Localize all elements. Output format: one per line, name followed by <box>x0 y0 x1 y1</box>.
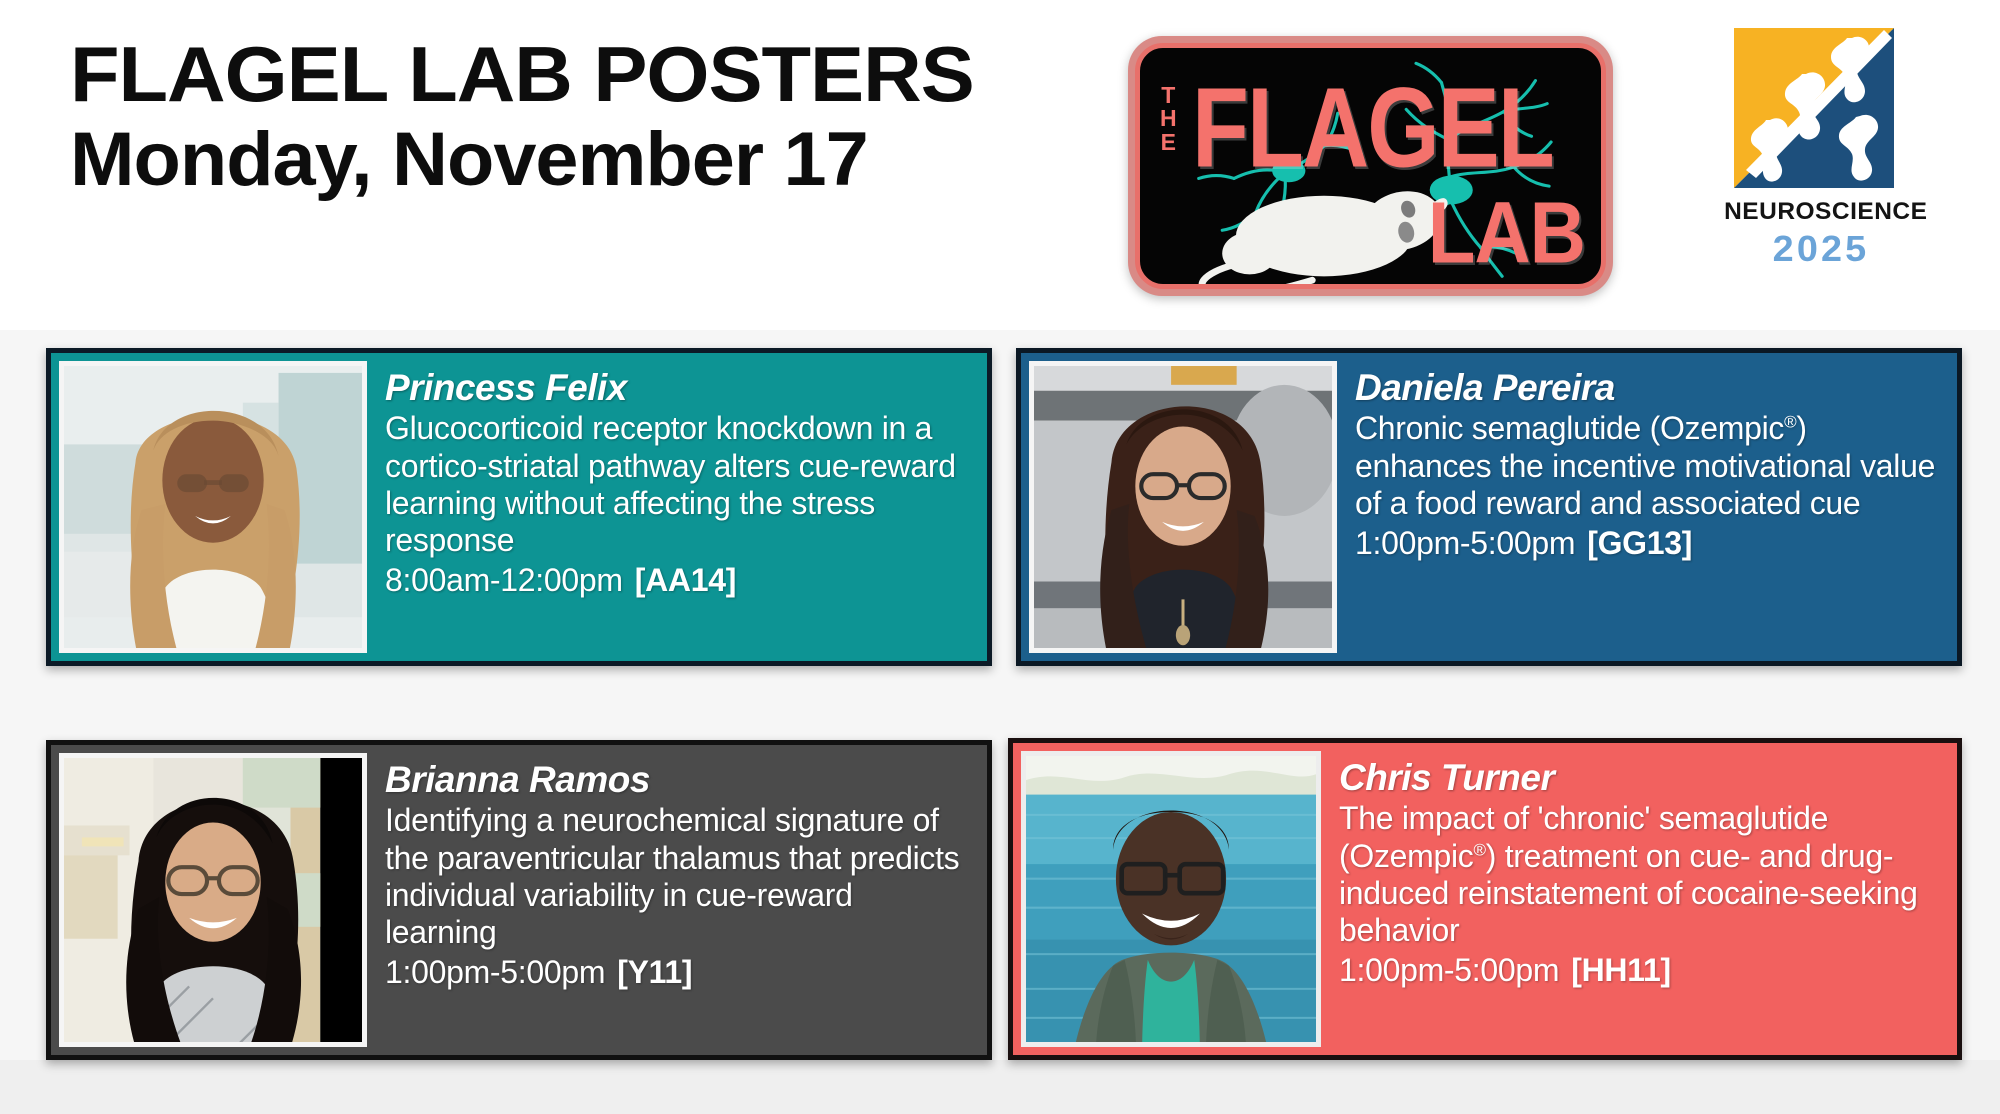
avatar-princess-felix <box>59 361 367 653</box>
flagel-lab-logo: THE FLAGEL LAB <box>1128 36 1613 296</box>
headshot-photo <box>1026 756 1316 1042</box>
poster-board-number: [Y11] <box>617 954 692 990</box>
poster-title-part1: Chronic semaglutide (Ozempic <box>1355 410 1784 446</box>
poster-time-and-board: 1:00pm-5:00pm[Y11] <box>385 953 971 991</box>
poster-announcement-page: FLAGEL LAB POSTERS Monday, November 17 <box>0 0 2000 1114</box>
poster-board-number: [GG13] <box>1587 525 1692 561</box>
avatar-daniela-pereira <box>1029 361 1337 653</box>
poster-time: 1:00pm-5:00pm <box>1339 952 1559 988</box>
sfn-logo-year: 2025 <box>1721 228 1921 270</box>
avatar-chris-turner <box>1021 751 1321 1047</box>
poster-time-and-board: 1:00pm-5:00pm[HH11] <box>1339 951 1941 989</box>
poster-card-daniela-pereira[interactable]: Daniela Pereira Chronic semaglutide (Oze… <box>1016 348 1962 666</box>
avatar-brianna-ramos <box>59 753 367 1047</box>
registered-trademark-icon: ® <box>1474 840 1486 859</box>
poster-time: 1:00pm-5:00pm <box>1355 525 1575 561</box>
poster-time: 1:00pm-5:00pm <box>385 954 605 990</box>
flagel-lab-logo-inner: THE FLAGEL LAB <box>1135 43 1606 289</box>
headshot-photo <box>64 366 362 648</box>
poster-time: 8:00am-12:00pm <box>385 562 623 598</box>
poster-time-and-board: 8:00am-12:00pm[AA14] <box>385 561 971 599</box>
poster-title: Chronic semaglutide (Ozempic®) enhances … <box>1355 410 1941 521</box>
neuroscience-2025-logo: NEUROSCIENCE 2025 <box>1726 28 1916 278</box>
page-title: FLAGEL LAB POSTERS Monday, November 17 <box>70 35 1020 201</box>
flagel-logo-lab-text: LAB <box>1428 189 1585 276</box>
presenter-name: Princess Felix <box>385 367 971 408</box>
header: FLAGEL LAB POSTERS Monday, November 17 <box>0 0 2000 330</box>
poster-title: Identifying a neurochemical signature of… <box>385 802 971 950</box>
poster-title: The impact of 'chronic' semaglutide (Oze… <box>1339 800 1941 948</box>
poster-info-princess-felix: Princess Felix Glucocorticoid receptor k… <box>367 353 987 661</box>
poster-info-brianna-ramos: Brianna Ramos Identifying a neurochemica… <box>367 745 987 1055</box>
title-line-1: FLAGEL LAB POSTERS <box>70 35 1058 115</box>
presenter-name: Daniela Pereira <box>1355 367 1941 408</box>
poster-info-chris-turner: Chris Turner The impact of 'chronic' sem… <box>1321 743 1957 1055</box>
title-line-2: Monday, November 17 <box>70 119 1039 201</box>
poster-card-princess-felix[interactable]: Princess Felix Glucocorticoid receptor k… <box>46 348 992 666</box>
poster-card-chris-turner[interactable]: Chris Turner The impact of 'chronic' sem… <box>1008 738 1962 1060</box>
poster-board-number: [AA14] <box>635 562 736 598</box>
flagel-logo-the-text: THE <box>1160 84 1182 154</box>
sfn-logo-text: NEUROSCIENCE 2025 <box>1726 198 1916 270</box>
poster-board-number: [HH11] <box>1571 952 1671 988</box>
poster-time-and-board: 1:00pm-5:00pm[GG13] <box>1355 524 1941 562</box>
headshot-photo <box>64 758 362 1042</box>
poster-info-daniela-pereira: Daniela Pereira Chronic semaglutide (Oze… <box>1337 353 1957 661</box>
presenter-name: Brianna Ramos <box>385 759 971 800</box>
sfn-neuron-mark-icon <box>1734 28 1894 188</box>
flagel-logo-wordmark: FLAGEL <box>1192 72 1553 185</box>
poster-card-brianna-ramos[interactable]: Brianna Ramos Identifying a neurochemica… <box>46 740 992 1060</box>
headshot-photo <box>1034 366 1332 648</box>
presenter-name: Chris Turner <box>1339 757 1941 798</box>
poster-title: Glucocorticoid receptor knockdown in a c… <box>385 410 971 558</box>
sfn-logo-name: NEUROSCIENCE <box>1724 198 1918 226</box>
registered-trademark-icon: ® <box>1784 413 1796 432</box>
